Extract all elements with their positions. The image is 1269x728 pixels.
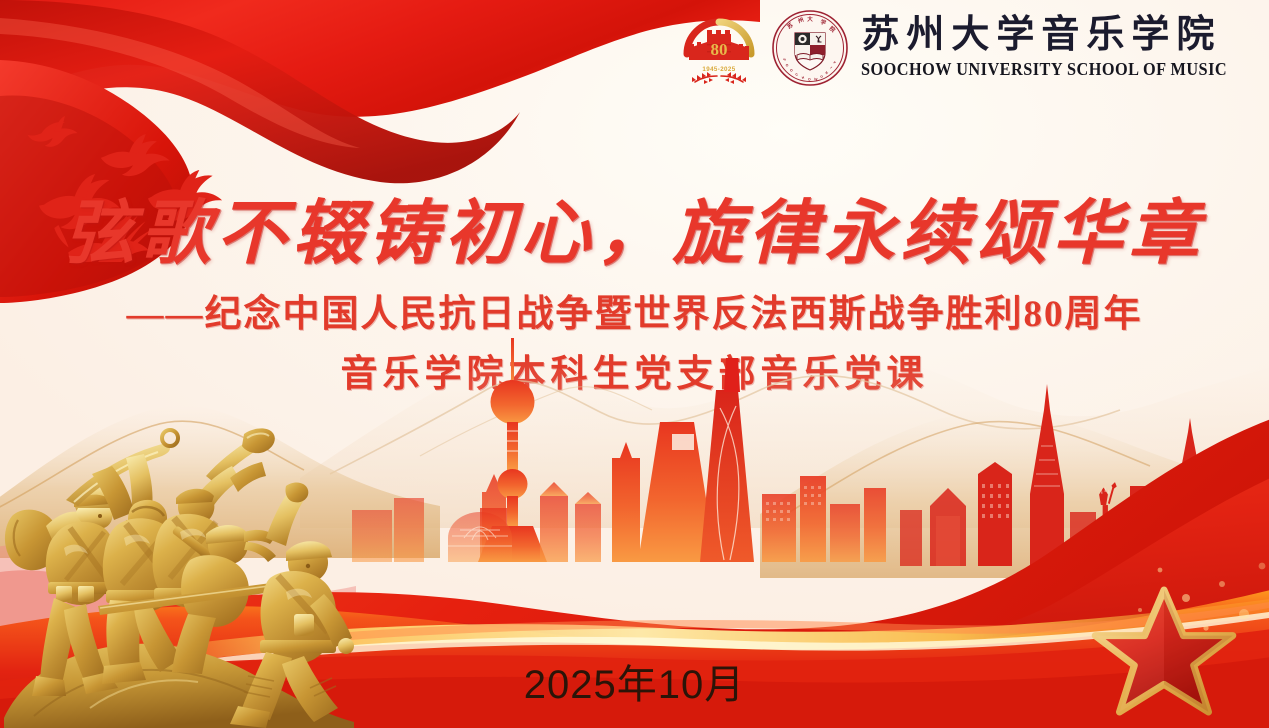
page-title: 弦歌不辍铸初心，旋律永续颂华章 xyxy=(0,196,1269,274)
bugle-bell xyxy=(242,428,275,453)
svg-text:O: O xyxy=(808,78,811,82)
sword-blade xyxy=(66,443,170,506)
soldier-bugler xyxy=(153,428,275,607)
subtitle-line-1: ——纪念中国人民抗日战争暨世界反法西斯战争胜利80周年 xyxy=(0,286,1269,343)
emblem-number: 80 xyxy=(711,40,728,59)
soldier-with-sword xyxy=(66,430,182,684)
school-name-cn: 苏州大学音乐学院 xyxy=(861,16,1255,56)
school-name-en: SOOCHOW UNIVERSITY SCHOOL OF MUSIC xyxy=(861,59,1227,80)
title-block: 弦歌不辍铸初心，旋律永续颂华章 ——纪念中国人民抗日战争暨世界反法西斯战争胜利8… xyxy=(0,196,1269,403)
poster-canvas: 80 1945-2025 xyxy=(0,0,1269,728)
event-date: 2025年10月 xyxy=(0,652,1269,710)
svg-text:大: 大 xyxy=(808,15,814,23)
soochow-university-seal: 苏 州 大 学 院 S O O C H O W U N I xyxy=(771,9,849,87)
bokeh-sparkles xyxy=(1138,563,1265,631)
header-brand: 80 1945-2025 xyxy=(677,6,1255,90)
brand-text-block: 苏州大学音乐学院 SOOCHOW UNIVERSITY SCHOOL OF MU… xyxy=(861,16,1255,80)
rifle xyxy=(98,580,296,615)
golden-ridge-right xyxy=(760,411,1269,578)
bronze-highlights xyxy=(64,529,312,600)
emblem-years: 1945-2025 xyxy=(703,66,736,73)
great-wall-80-anniversary-emblem: 80 1945-2025 xyxy=(677,6,761,90)
subtitle-line-2: 音乐学院本科生党支部音乐党课 xyxy=(0,346,1269,403)
world-city-skyline-silhouette xyxy=(900,384,1269,566)
golden-ridge-left xyxy=(0,405,440,558)
